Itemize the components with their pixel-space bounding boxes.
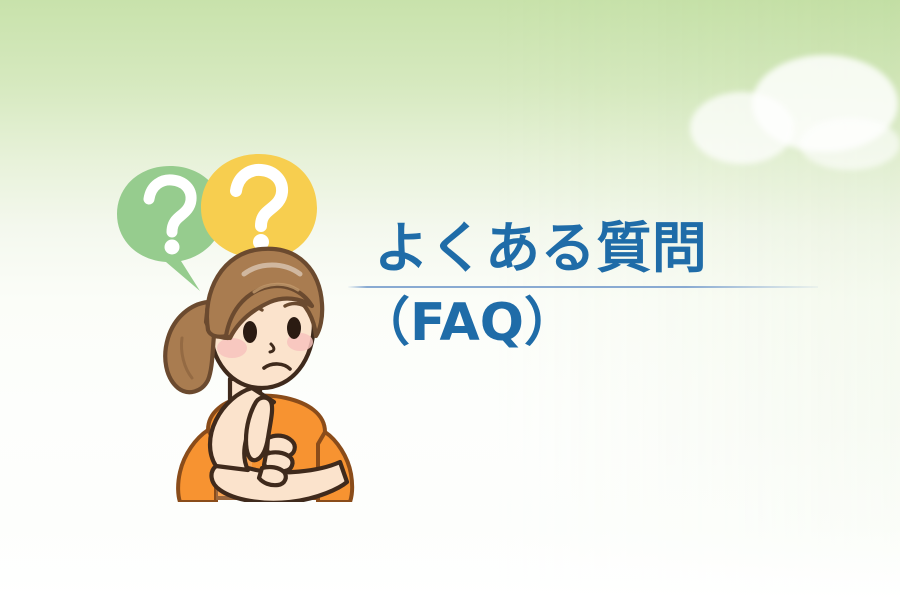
thinking-woman-illustration: .ol { stroke:#3f2a1c; stroke-width:4.2; … (104, 152, 364, 502)
cloud-shape-small (800, 118, 900, 170)
faq-title-block: よくある質問 （FAQ） (348, 218, 818, 354)
title-divider (348, 286, 818, 288)
page-title: よくある質問 (374, 218, 818, 280)
cloud-shape-medium (690, 92, 794, 164)
faq-banner: .ol { stroke:#3f2a1c; stroke-width:4.2; … (0, 0, 900, 600)
page-subtitle: （FAQ） (358, 292, 818, 354)
